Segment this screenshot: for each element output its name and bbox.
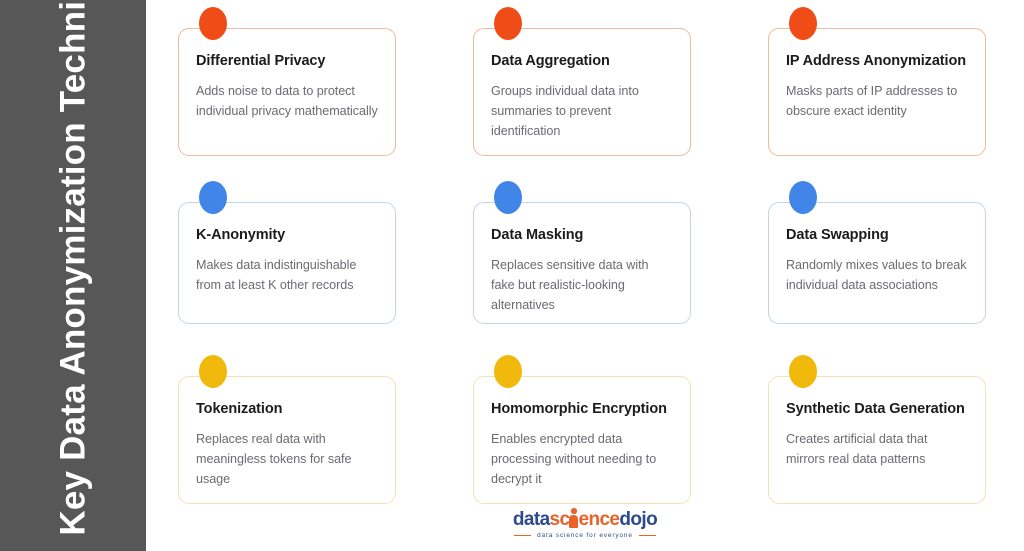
card-title: K-Anonymity [196,225,378,246]
orange-dot-icon [789,7,817,40]
technique-card: K-AnonymityMakes data indistinguishable … [178,202,396,324]
blue-dot-icon [199,181,227,214]
card-description: Makes data indistinguishable from at lea… [196,255,378,296]
technique-card: Synthetic Data GenerationCreates artific… [768,376,986,504]
card-title: Data Aggregation [491,51,673,72]
yellow-dot-icon [494,355,522,388]
blue-dot-icon [789,181,817,214]
technique-card: Homomorphic EncryptionEnables encrypted … [473,376,691,504]
card-description: Creates artificial data that mirrors rea… [786,429,968,470]
cards-grid: Differential PrivacyAdds noise to data t… [178,28,986,496]
technique-card: Data SwappingRandomly mixes values to br… [768,202,986,324]
technique-card: Differential PrivacyAdds noise to data t… [178,28,396,156]
card-title: Data Swapping [786,225,968,246]
yellow-dot-icon [789,355,817,388]
infographic-root: Key Data Anonymization Techniques Differ… [0,0,1024,551]
card-description: Replaces sensitive data with fake but re… [491,255,673,316]
card-title: Tokenization [196,399,378,420]
tagline-rule-right [639,535,656,537]
card-title: Synthetic Data Generation [786,399,968,420]
logo-wordmark: datascencedojo [513,510,657,529]
yellow-dot-icon [199,355,227,388]
logo-text-ence: ence [578,509,619,530]
sidebar-banner: Key Data Anonymization Techniques [0,0,146,551]
sidebar-title-container: Key Data Anonymization Techniques [0,0,146,551]
logo-text-data: data [513,509,550,530]
card-title: Data Masking [491,225,673,246]
card-title: IP Address Anonymization [786,51,968,72]
card-description: Groups individual data into summaries to… [491,81,673,142]
card-description: Replaces real data with meaningless toke… [196,429,378,490]
card-description: Masks parts of IP addresses to obscure e… [786,81,968,122]
logo-text-sc: sc [550,509,570,530]
brand-logo: datascencedojo data science for everyone [0,510,1024,541]
orange-dot-icon [199,7,227,40]
technique-card: Data AggregationGroups individual data i… [473,28,691,156]
tagline-rule-left [514,535,531,537]
blue-dot-icon [494,181,522,214]
logo-inner: datascencedojo data science for everyone [367,510,657,539]
logo-tagline-row: data science for everyone [513,532,657,539]
logo-text-dojo: dojo [619,509,657,530]
page-title: Key Data Anonymization Techniques [52,15,93,535]
card-description: Adds noise to data to protect individual… [196,81,378,122]
card-description: Enables encrypted data processing withou… [491,429,673,490]
card-title: Differential Privacy [196,51,378,72]
card-description: Randomly mixes values to break individua… [786,255,968,296]
card-title: Homomorphic Encryption [491,399,673,420]
technique-card: Data MaskingReplaces sensitive data with… [473,202,691,324]
logo-tagline: data science for everyone [537,532,633,539]
orange-dot-icon [494,7,522,40]
technique-card: IP Address AnonymizationMasks parts of I… [768,28,986,156]
technique-card: TokenizationReplaces real data with mean… [178,376,396,504]
person-icon [569,511,578,528]
